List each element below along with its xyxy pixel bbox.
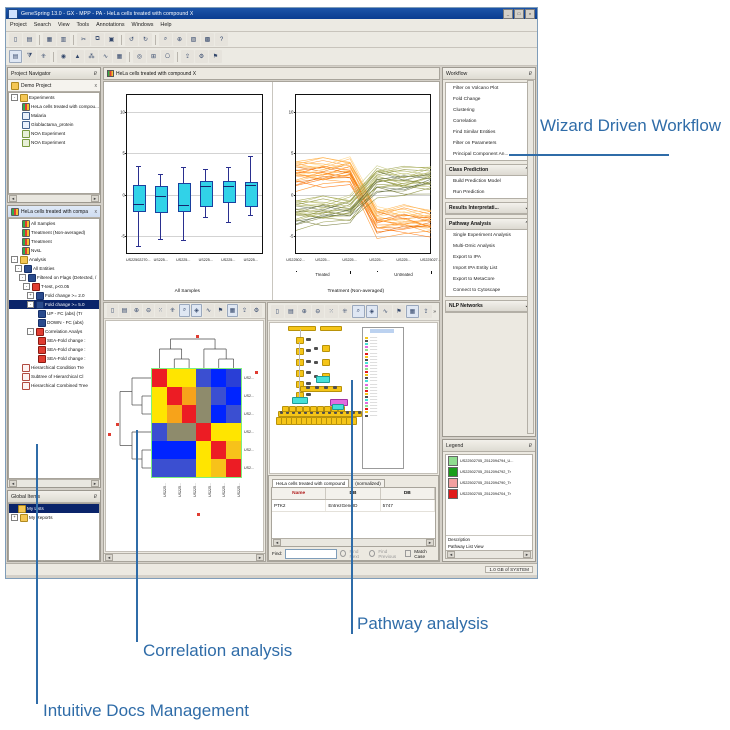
menu-item-view[interactable]: View: [58, 22, 70, 28]
heatmap-column-label: US225...: [178, 483, 182, 497]
workflow-item[interactable]: Multi-Omic Analysis: [446, 241, 532, 252]
column-header-db1[interactable]: DB: [326, 488, 380, 499]
experiment-tree-item[interactable]: Hierarchical Condition Tre: [9, 363, 99, 372]
export-icon[interactable]: ⇪: [181, 50, 194, 63]
y-axis-tick: [125, 112, 127, 113]
workflow-group-header[interactable]: Results Interpretati...⌄: [446, 203, 532, 214]
legend-entry[interactable]: US22502705_2512094704_Tr: [446, 488, 532, 499]
ent-icon: [24, 265, 32, 273]
workflow-group-header[interactable]: Pathway Analysis⌃: [446, 219, 532, 230]
workflow-group-header[interactable]: NLP Networks⌄: [446, 301, 532, 312]
style-icon[interactable]: ◈: [366, 305, 379, 318]
x-axis-tick-label: US225...: [244, 258, 258, 262]
pathway-node[interactable]: [322, 345, 330, 352]
resize-icon[interactable]: ⊕: [131, 304, 142, 317]
next-icon[interactable]: ⚙: [251, 304, 262, 317]
workflow-item[interactable]: Connect to Cytoscape: [446, 285, 532, 296]
collapse-icon[interactable]: -: [11, 256, 18, 263]
heatmap-cell[interactable]: [196, 441, 211, 459]
filter-icon[interactable]: ⧩: [23, 50, 36, 63]
boxplot-box[interactable]: [155, 186, 168, 214]
zoom-in-icon[interactable]: ⊕: [298, 305, 311, 318]
scroll-left-icon[interactable]: ◄: [9, 195, 17, 202]
legend-entry[interactable]: US22502705_2512094792_Tr: [446, 466, 532, 477]
pin-icon[interactable]: ₽: [94, 494, 97, 500]
legend-color-swatch: [448, 489, 458, 499]
pathway-node[interactable]: [306, 338, 311, 341]
heatmap-cell[interactable]: [167, 423, 182, 441]
pointer-icon[interactable]: ▯: [107, 304, 118, 317]
heatmap-grid[interactable]: [152, 369, 241, 477]
heatmap-cell[interactable]: [182, 387, 197, 405]
project-tree-label: Globlactama_protein: [31, 122, 73, 127]
experiment-tab[interactable]: HeLa cells treated with compa x: [8, 206, 100, 218]
tree-spacer: [15, 131, 20, 136]
pathway-node[interactable]: [310, 406, 317, 412]
workflow-item[interactable]: Fold Change: [446, 94, 532, 105]
heatmap-cell[interactable]: [211, 405, 226, 423]
pathway-node[interactable]: [306, 382, 311, 385]
menu-bar[interactable]: Project Search View Tools Annotations Wi…: [6, 19, 537, 32]
experiment-tree-item[interactable]: -Correlation Analys: [9, 327, 99, 336]
find-previous-radio[interactable]: [369, 550, 375, 557]
grid-icon[interactable]: ▩: [201, 33, 214, 46]
selection-marker[interactable]: [116, 423, 119, 426]
heatmap-cell[interactable]: [167, 459, 182, 477]
y-axis-tick-label: 10: [284, 109, 294, 114]
zoom-out-icon[interactable]: ⊖: [312, 305, 325, 318]
settings-icon[interactable]: ⚙: [195, 50, 208, 63]
experiment-tree-item[interactable]: SEA-Fold change :: [9, 336, 99, 345]
heatmap-cell[interactable]: [211, 459, 226, 477]
workflow-item[interactable]: Import IPA Entity List: [446, 263, 532, 274]
heatmap-cell[interactable]: [182, 405, 197, 423]
experiment-tree-label: All Entities: [33, 266, 54, 271]
export-icon[interactable]: ⇪: [420, 305, 433, 318]
heatmap-cell[interactable]: [226, 441, 241, 459]
pathway-node[interactable]: [314, 361, 318, 364]
pathway-node[interactable]: [358, 411, 361, 414]
pca-icon[interactable]: ◉: [57, 50, 70, 63]
project-tree-item[interactable]: -Experiments: [9, 93, 99, 102]
pathway-node[interactable]: [333, 386, 337, 389]
cut-icon[interactable]: ✂: [77, 33, 90, 46]
find-previous-label[interactable]: Find Previous: [378, 549, 402, 559]
experiment-tree[interactable]: All SamplesTreatment (Non-averaged)Treat…: [8, 218, 100, 479]
scroll-left-icon[interactable]: ◄: [447, 551, 455, 558]
heatmap-row-label: US2...: [244, 412, 254, 416]
pathway-node[interactable]: [282, 406, 289, 412]
pathway-node[interactable]: [317, 406, 324, 412]
project-tree-item[interactable]: Globlactama_protein: [9, 120, 99, 129]
experiment-tree-label: Fold change >= 2.0: [45, 293, 85, 298]
volcano-icon[interactable]: ▲: [71, 50, 84, 63]
global-items-item[interactable]: +My Reports: [9, 513, 99, 522]
find-icon[interactable]: ⌕: [159, 33, 172, 46]
experiment-tree-label: Treatment: [31, 239, 52, 244]
color-icon[interactable]: ⊖: [143, 304, 154, 317]
project-tree-item[interactable]: NOA Experiment: [9, 129, 99, 138]
y-axis-tick: [125, 236, 127, 237]
heatmap-cell[interactable]: [152, 369, 167, 387]
experiment-tree-item[interactable]: NvsL: [9, 246, 99, 255]
legend-entry[interactable]: US22502705_2512094790_Tr: [446, 477, 532, 488]
horizontal-scrollbar[interactable]: ◄ ►: [8, 479, 100, 487]
grid-scrollbar[interactable]: ◄ ►: [272, 538, 435, 546]
annotation-leader-pathway-up: [351, 380, 353, 602]
experiment-tree-item[interactable]: Treatment: [9, 237, 99, 246]
selection-marker[interactable]: [196, 335, 199, 338]
pathway-legend-swatch: [365, 356, 368, 358]
experiment-tree-item[interactable]: -Analysis: [9, 255, 99, 264]
heatmap-cell[interactable]: [167, 441, 182, 459]
pathway-node[interactable]: [288, 326, 316, 331]
heatmap-cell[interactable]: [152, 459, 167, 477]
pathway-node[interactable]: [306, 349, 311, 352]
scatter-icon[interactable]: ⁂: [85, 50, 98, 63]
pathway-legend-swatch: [365, 408, 368, 410]
menu-item-search[interactable]: Search: [34, 22, 51, 28]
experiment-tree-item[interactable]: SEA-Fold change :: [9, 354, 99, 363]
x-axis-tick-label: US22502...: [286, 258, 304, 262]
heatmap-cell[interactable]: [211, 441, 226, 459]
pathway-node[interactable]: [322, 359, 330, 366]
pathway-node-highlight[interactable]: [292, 397, 308, 404]
experiment-tree-item[interactable]: -T-test, p<0.05: [9, 282, 99, 291]
correlation-analysis-panel: ▯▤⊕⊖⁙⁜⌕◈∿⚑▦⇪⚙ US225...US225...US225...US…: [103, 302, 266, 562]
print-icon[interactable]: ▥: [57, 33, 70, 46]
minimize-button[interactable]: _: [503, 9, 513, 19]
plot-icon[interactable]: ∿: [379, 305, 392, 318]
paste-icon[interactable]: ▣: [105, 33, 118, 46]
expand-icon[interactable]: +: [11, 514, 18, 521]
heatmap-cell[interactable]: [211, 387, 226, 405]
pin-icon[interactable]: ₽: [529, 71, 532, 77]
workflow-item[interactable]: Clustering: [446, 105, 532, 116]
experiment-tree-item[interactable]: Subtree of Hierarchical Cl: [9, 372, 99, 381]
menu-item-project[interactable]: Project: [10, 22, 27, 28]
workflow-item[interactable]: Find Similar Entities: [446, 127, 532, 138]
menu-item-tools[interactable]: Tools: [76, 22, 89, 28]
legend-entries[interactable]: US22502705_2512094794_U...US22502705_251…: [446, 455, 532, 535]
pathway-node[interactable]: [296, 337, 304, 344]
profile-plot-chart[interactable]: Normalized Intensity Values -50510US2250…: [272, 82, 440, 300]
find-bar[interactable]: Find: Find Next Find Previous Match Case: [269, 547, 438, 560]
workflow-item[interactable]: Filter on Parameters: [446, 138, 532, 149]
find-next-radio[interactable]: [340, 550, 346, 557]
pathway-legend-swatch: [365, 393, 368, 395]
matrix-icon[interactable]: ⊞: [147, 50, 160, 63]
pathway-legend-swatch: [365, 387, 368, 389]
global-items-tree[interactable]: My Lists+My Reports: [8, 503, 100, 561]
list-icon[interactable]: ▤: [285, 305, 298, 318]
profile-icon[interactable]: ∿: [99, 50, 112, 63]
copy-icon[interactable]: ⧉: [91, 33, 104, 46]
scroll-right-icon[interactable]: ►: [256, 554, 264, 561]
nodes-icon[interactable]: ⁙: [325, 305, 338, 318]
pathway-node[interactable]: [324, 406, 331, 412]
pathway-node[interactable]: [320, 326, 342, 331]
venn-icon[interactable]: ◎: [133, 50, 146, 63]
boxplot-whisker-cap: [248, 215, 253, 216]
undo-icon[interactable]: ↺: [125, 33, 138, 46]
heatmap-cell[interactable]: [152, 441, 167, 459]
pathway-node[interactable]: [306, 393, 311, 396]
workflow-item[interactable]: Build Prediction Model: [446, 176, 532, 187]
pathway-node-highlight[interactable]: [316, 376, 330, 383]
legend-entry[interactable]: US22502705_2512094794_U...: [446, 455, 532, 466]
experiment-tree-item[interactable]: UP - FC (abs) (Tr: [9, 309, 99, 318]
save-icon[interactable]: ▦: [43, 33, 56, 46]
boxplot-whisker-cap: [136, 166, 141, 167]
pathway-node-highlight[interactable]: [332, 404, 344, 410]
pathway-diagram[interactable]: ————————————————————————————————————————…: [269, 322, 438, 474]
heatmap-cell[interactable]: [152, 387, 167, 405]
heatmap-row-label: US2...: [244, 394, 254, 398]
cluster-icon[interactable]: ⁜: [37, 50, 50, 63]
workflow-item[interactable]: Export to IPA: [446, 252, 532, 263]
open-icon[interactable]: ▤: [23, 33, 36, 46]
flag-icon[interactable]: ⚑: [209, 50, 222, 63]
heatmap-cell[interactable]: [152, 405, 167, 423]
export-icon[interactable]: ⁜: [167, 304, 178, 317]
project-tree-item[interactable]: HeLa cells treated with compou...: [9, 102, 99, 111]
global-items-item[interactable]: My Lists: [9, 504, 99, 513]
tab-entity-list[interactable]: HeLa cells treated with compound: [272, 479, 349, 487]
pathway-node[interactable]: [306, 386, 310, 389]
menu-item-help[interactable]: Help: [160, 22, 171, 28]
heatmap-icon[interactable]: ▦: [113, 50, 126, 63]
pin-icon[interactable]: ₽: [94, 71, 97, 77]
heatmap-cell[interactable]: [196, 369, 211, 387]
collapse-icon[interactable]: -: [11, 94, 18, 101]
experiment-tree-label: NvsL: [31, 248, 41, 253]
project-tree-item[interactable]: NOA Experiment: [9, 138, 99, 147]
tab-normalized[interactable]: (normalized): [351, 479, 385, 487]
heatmap-cell[interactable]: [196, 405, 211, 423]
scroll-left-icon[interactable]: ◄: [273, 539, 281, 546]
heatmap-cell[interactable]: [226, 423, 241, 441]
heatmap-cell[interactable]: [196, 423, 211, 441]
boxplot-box[interactable]: [223, 181, 236, 204]
application-window: GeneSpring 13.0 - GX - MPP - PA - HeLa c…: [5, 7, 538, 579]
correlation-toolbar[interactable]: ▯▤⊕⊖⁙⁜⌕◈∿⚑▦⇪⚙: [104, 303, 265, 319]
heatmap-cell[interactable]: [167, 405, 182, 423]
edges-icon[interactable]: ⁜: [339, 305, 352, 318]
experiment-tree-item[interactable]: -Fold change >= 5.0: [9, 300, 99, 309]
help-icon[interactable]: ?: [215, 33, 228, 46]
zoom-icon[interactable]: ⊕: [173, 33, 186, 46]
pathway-icon[interactable]: ⎔: [161, 50, 174, 63]
legend-scrollbar[interactable]: ◄ ►: [446, 550, 532, 558]
collapse-icon[interactable]: -: [23, 283, 30, 290]
redo-icon[interactable]: ↻: [139, 33, 152, 46]
column-header-name[interactable]: Name: [272, 488, 326, 499]
pathway-node[interactable]: [296, 406, 303, 412]
heatmap-row-label: US2...: [244, 448, 254, 452]
window-buttons[interactable]: _ □ ×: [503, 9, 535, 19]
boxplot-box[interactable]: [133, 185, 146, 212]
tree-spacer: [31, 311, 36, 316]
move-icon[interactable]: ◈: [191, 304, 202, 317]
experiment-tree-item[interactable]: -Filtered on Flags (Detected, /: [9, 273, 99, 282]
pin-icon[interactable]: ₽: [529, 443, 532, 449]
pathway-node[interactable]: [296, 370, 304, 377]
project-tree-item[interactable]: Malaria: [9, 111, 99, 120]
main-toolbar[interactable]: ▯ ▤ ▦ ▥ ✂ ⧉ ▣ ↺ ↻ ⌕ ⊕ ▨ ▩ ?: [6, 32, 537, 48]
pathway-node[interactable]: [306, 360, 311, 363]
correlation-heatmap[interactable]: US225...US225...US225...US225...US225...…: [105, 320, 264, 552]
annotate-icon[interactable]: ▤: [119, 304, 130, 317]
chart-icon[interactable]: ▨: [187, 33, 200, 46]
heatmap-cell[interactable]: [167, 387, 182, 405]
workflow-item[interactable]: Filter on Volcano Plot: [446, 83, 532, 94]
heatmap-column-label: US225...: [237, 483, 241, 497]
experiment-tree-item[interactable]: All Samples: [9, 219, 99, 228]
experiment-tree-item[interactable]: DOWN - FC (abs): [9, 318, 99, 327]
close-icon[interactable]: x: [95, 209, 98, 215]
layout-icon[interactable]: ▯: [271, 305, 284, 318]
scroll-right-icon[interactable]: ►: [91, 480, 99, 487]
workflow-item[interactable]: Export to MetaCore: [446, 274, 532, 285]
scroll-left-icon[interactable]: ◄: [9, 480, 17, 487]
workflow-group: Class Prediction⌃Build Prediction ModelR…: [445, 164, 533, 199]
heatmap-cell[interactable]: [167, 369, 182, 387]
project-tab[interactable]: Demo Project x: [8, 80, 100, 92]
horizontal-scrollbar[interactable]: ◄ ►: [104, 553, 265, 561]
collapse-icon[interactable]: -: [27, 301, 34, 308]
experiment-tree-label: Fold change >= 5.0: [45, 302, 85, 307]
heatmap-cell[interactable]: [196, 387, 211, 405]
undo-icon[interactable]: ∿: [203, 304, 214, 317]
horizontal-scrollbar[interactable]: ◄ ►: [8, 194, 100, 202]
scroll-left-icon[interactable]: ◄: [105, 554, 113, 561]
memory-status[interactable]: 1.0 GB of SYSTEM: [485, 566, 533, 573]
pathway-legend-swatch: [365, 365, 368, 367]
experiment-icon[interactable]: ▤: [9, 50, 22, 63]
properties-icon[interactable]: ▦: [227, 304, 238, 317]
folder-icon: [20, 94, 28, 102]
pathway-node[interactable]: [289, 406, 296, 412]
experiment-tree-label: Correlation Analys: [45, 329, 82, 334]
heatmap-cell[interactable]: [211, 423, 226, 441]
workflow-scrollbar[interactable]: [527, 80, 534, 434]
boxplot-x-axis-title: All Samples: [104, 289, 271, 294]
workflow-group-header[interactable]: Class Prediction⌃: [446, 165, 532, 176]
heatmap-cell[interactable]: [211, 369, 226, 387]
maximize-button[interactable]: □: [514, 9, 524, 19]
heatmap-cell[interactable]: [196, 459, 211, 477]
experiment-tree-item[interactable]: -All Entities: [9, 264, 99, 273]
flag-icon[interactable]: ⁙: [155, 304, 166, 317]
experiment-tree-item[interactable]: Treatment (Non-averaged): [9, 228, 99, 237]
selection-marker[interactable]: [108, 433, 111, 436]
analysis-toolbar[interactable]: ▤ ⧩ ⁜ ◉ ▲ ⁂ ∿ ▦ ◎ ⊞ ⎔ ⇪ ⚙ ⚑: [6, 48, 537, 66]
pathway-node[interactable]: [346, 411, 349, 414]
document-tab[interactable]: HeLa cells treated with compound X: [103, 67, 440, 80]
expand-icon[interactable]: +: [27, 292, 34, 299]
highlight-icon[interactable]: ⚑: [393, 305, 406, 318]
pathway-node[interactable]: [315, 386, 319, 389]
heatmap-cell[interactable]: [226, 459, 241, 477]
pathway-node[interactable]: [296, 359, 304, 366]
collapse-icon[interactable]: -: [27, 328, 34, 335]
pathway-node[interactable]: [303, 406, 310, 412]
dot-icon: [38, 337, 46, 345]
search-input[interactable]: [285, 549, 337, 559]
table-row[interactable]: PTK2 EntrezGeneID 5747: [272, 500, 435, 512]
heatmap-cell[interactable]: [182, 369, 197, 387]
scroll-right-icon[interactable]: ►: [426, 539, 434, 546]
entity-grid[interactable]: Name DB DB PTK2 EntrezGeneID 5747 ◄: [271, 487, 436, 547]
pathway-legend-swatch: [365, 377, 368, 379]
workflow-item[interactable]: Single Experiment Analysis: [446, 230, 532, 241]
experiment-tree-item[interactable]: Hierarchical Combined Tree: [9, 381, 99, 390]
experiment-tree-item[interactable]: SEA-Fold change :: [9, 345, 99, 354]
workflow-item[interactable]: Correlation: [446, 116, 532, 127]
pathway-legend-swatch: [365, 362, 368, 364]
experiment-tree-item[interactable]: +Fold change >= 2.0: [9, 291, 99, 300]
match-case-checkbox[interactable]: [405, 550, 411, 557]
new-icon[interactable]: ▯: [9, 33, 22, 46]
workflow-item[interactable]: Run Prediction: [446, 187, 532, 198]
collapse-icon[interactable]: -: [19, 274, 26, 281]
heatmap-cell[interactable]: [152, 423, 167, 441]
scroll-right-icon[interactable]: ►: [523, 551, 531, 558]
legend-icon[interactable]: ▦: [406, 305, 419, 318]
search-icon[interactable]: ⌕: [352, 305, 365, 318]
heatmap-cell[interactable]: [226, 369, 241, 387]
workflow-list[interactable]: Filter on Volcano PlotFold ChangeCluster…: [443, 80, 535, 436]
boxplot-box[interactable]: [178, 183, 191, 212]
close-icon[interactable]: x: [95, 83, 98, 89]
heatmap-cell[interactable]: [226, 405, 241, 423]
menu-item-windows[interactable]: Windows: [132, 22, 154, 28]
heatmap-cell[interactable]: [226, 387, 241, 405]
gridline: [127, 153, 262, 154]
gridline: [127, 236, 262, 237]
boxplot-box[interactable]: [245, 182, 258, 206]
pathway-toolbar[interactable]: ▯▤⊕⊖⁙⁜⌕◈∿⚑▦⇪»: [268, 303, 439, 321]
collapse-icon[interactable]: -: [15, 265, 22, 272]
heatmap-cell[interactable]: [182, 441, 197, 459]
pathway-node[interactable]: [306, 371, 311, 374]
heatmap-cell[interactable]: [182, 423, 197, 441]
group-bracket-cap: [431, 271, 432, 274]
match-case-label[interactable]: Match Case: [414, 549, 435, 559]
pan-icon[interactable]: ⌕: [179, 304, 190, 317]
profile-lines: [296, 95, 431, 253]
toolbar-overflow-icon[interactable]: »: [433, 309, 436, 315]
column-header-db2[interactable]: DB: [381, 488, 435, 499]
selection-marker[interactable]: [255, 371, 258, 374]
menu-item-annotations[interactable]: Annotations: [96, 22, 124, 28]
pathway-node[interactable]: [296, 348, 304, 355]
heatmap-cell[interactable]: [182, 459, 197, 477]
box-plot-chart[interactable]: Normalized Expression Values -50510US225…: [104, 82, 271, 300]
selection-marker[interactable]: [197, 513, 200, 516]
workflow-group-label: Results Interpretati...: [449, 205, 499, 211]
project-tree[interactable]: -ExperimentsHeLa cells treated with comp…: [8, 92, 100, 194]
redo-icon[interactable]: ⚑: [215, 304, 226, 317]
pathway-node[interactable]: [314, 347, 318, 350]
pathway-node[interactable]: [324, 386, 328, 389]
close-button[interactable]: ×: [525, 9, 535, 19]
boxplot-box[interactable]: [200, 181, 213, 207]
entity-table-tabs[interactable]: HeLa cells treated with compound (normal…: [269, 476, 438, 487]
prev-icon[interactable]: ⇪: [239, 304, 250, 317]
scroll-right-icon[interactable]: ►: [91, 195, 99, 202]
